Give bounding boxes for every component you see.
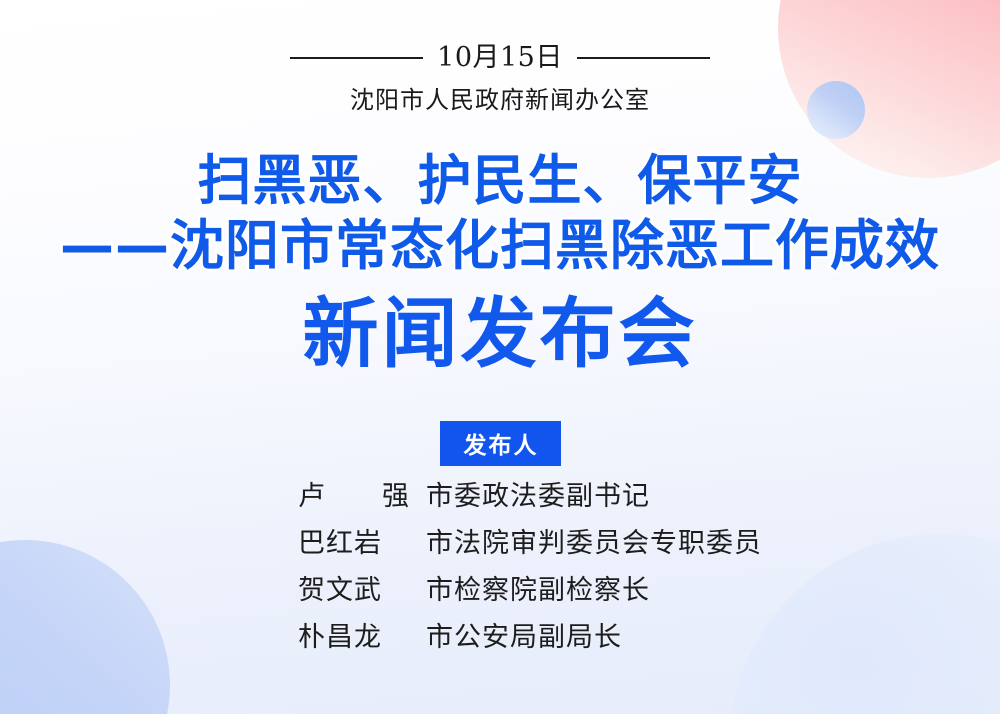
conference-date: 10月15日 (437, 44, 563, 71)
page-title: 新闻发布会 (0, 292, 1000, 376)
list-item: 巴红岩 市法院审判委员会专职委员 (298, 521, 762, 568)
list-item: 朴昌龙 市公安局副局长 (298, 615, 762, 662)
speaker-name: 巴红岩 (298, 521, 426, 560)
main-title: 扫黑恶、护民生、保平安 ——沈阳市常态化扫黑除恶工作成效 (0, 150, 1000, 276)
poster-header: 10月15日 沈阳市人民政府新闻办公室 (0, 44, 1000, 115)
speaker-list: 卢 强 市委政法委副书记 巴红岩 市法院审判委员会专职委员 贺文武 市检察院副检… (298, 474, 762, 662)
list-item: 贺文武 市检察院副检察长 (298, 568, 762, 615)
blue-wash-decoration (730, 534, 1000, 714)
organization-name: 沈阳市人民政府新闻办公室 (0, 80, 1000, 115)
news-conference-poster: 10月15日 沈阳市人民政府新闻办公室 扫黑恶、护民生、保平安 ——沈阳市常态化… (0, 0, 1000, 714)
speakers-badge: 发布人 (440, 421, 561, 466)
speaker-position: 市公安局副局长 (426, 615, 622, 654)
speaker-position: 市检察院副检察长 (426, 568, 650, 607)
date-row: 10月15日 (0, 44, 1000, 71)
speaker-name: 贺文武 (298, 568, 426, 607)
large-blue-circle-decoration (0, 540, 170, 714)
speaker-name: 朴昌龙 (298, 615, 426, 654)
speaker-position: 市委政法委副书记 (426, 474, 650, 513)
speaker-position: 市法院审判委员会专职委员 (426, 521, 762, 560)
list-item: 卢 强 市委政法委副书记 (298, 474, 762, 521)
title-line-1: 扫黑恶、护民生、保平安 (0, 150, 1000, 211)
title-line-2: ——沈阳市常态化扫黑除恶工作成效 (0, 215, 1000, 276)
speaker-name: 卢 强 (298, 474, 426, 513)
speakers-badge-wrap: 发布人 (0, 421, 1000, 466)
divider-line-right (577, 57, 710, 59)
divider-line-left (290, 57, 423, 59)
